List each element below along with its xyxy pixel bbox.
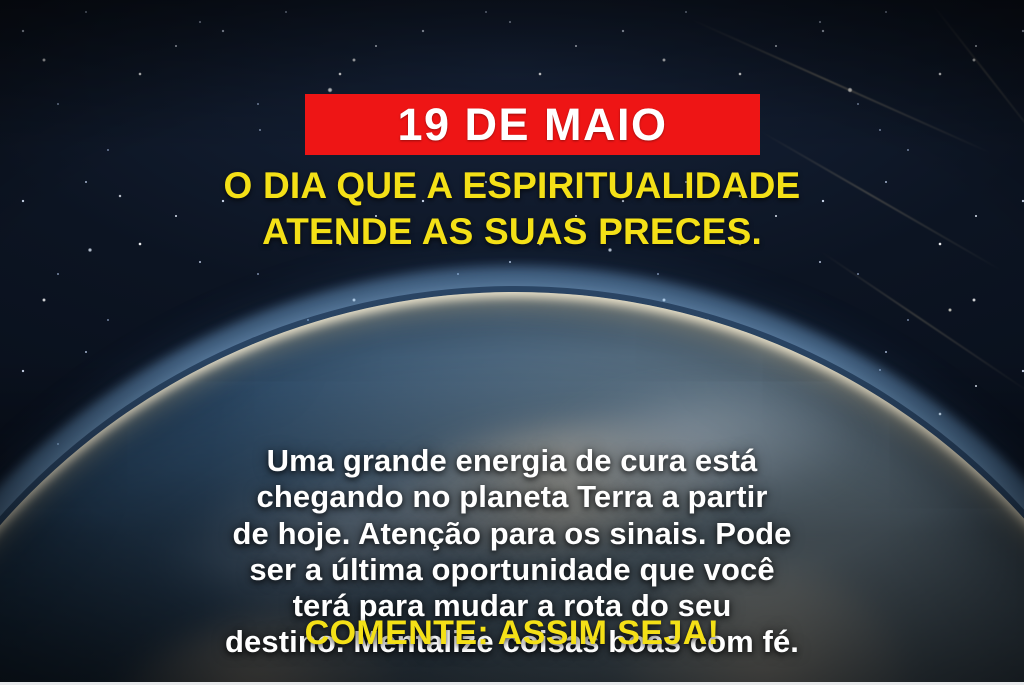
headline-line-2: ATENDE AS SUAS PRECES.: [20, 209, 1004, 255]
date-banner: 19 DE MAIO: [305, 94, 760, 155]
date-banner-text: 19 DE MAIO: [397, 102, 667, 147]
poster-content: 19 DE MAIO O DIA QUE A ESPIRITUALIDADE A…: [0, 0, 1024, 685]
headline: O DIA QUE A ESPIRITUALIDADE ATENDE AS SU…: [0, 163, 1024, 256]
body-line-3: de hoje. Atenção para os sinais. Pode: [40, 516, 984, 552]
poster-canvas: 19 DE MAIO O DIA QUE A ESPIRITUALIDADE A…: [0, 0, 1024, 685]
body-line-1: Uma grande energia de cura está: [40, 443, 984, 479]
headline-line-1: O DIA QUE A ESPIRITUALIDADE: [20, 163, 1004, 209]
body-line-4: ser a última oportunidade que você: [40, 552, 984, 588]
body-line-2: chegando no planeta Terra a partir: [40, 479, 984, 515]
call-to-action-text: COMENTE: ASSIM SEJA!: [0, 614, 1024, 653]
